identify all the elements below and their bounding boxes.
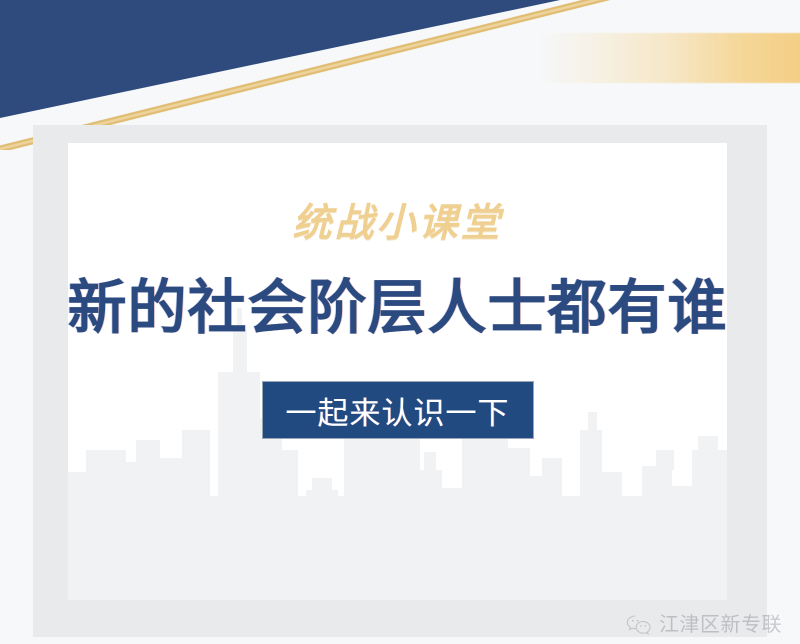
blue-wedge-shape [0, 0, 560, 118]
poster-card: 统战小课堂 新的社会阶层人士都有谁 一起来认识一下 [68, 143, 727, 600]
poster-title: 新的社会阶层人士都有谁 [68, 275, 727, 341]
card-content: 统战小课堂 新的社会阶层人士都有谁 一起来认识一下 [68, 143, 727, 600]
wechat-account-name: 江津区新专联 [659, 614, 782, 636]
wechat-watermark: 江津区新专联 [626, 614, 782, 636]
poster-subtitle: 统战小课堂 [292, 201, 502, 247]
gold-gradient-bar [540, 33, 800, 83]
poster-canvas: 统战小课堂 新的社会阶层人士都有谁 一起来认识一下 江津区新专联 [0, 0, 800, 644]
wechat-icon [626, 614, 652, 636]
cta-button[interactable]: 一起来认识一下 [262, 381, 534, 439]
